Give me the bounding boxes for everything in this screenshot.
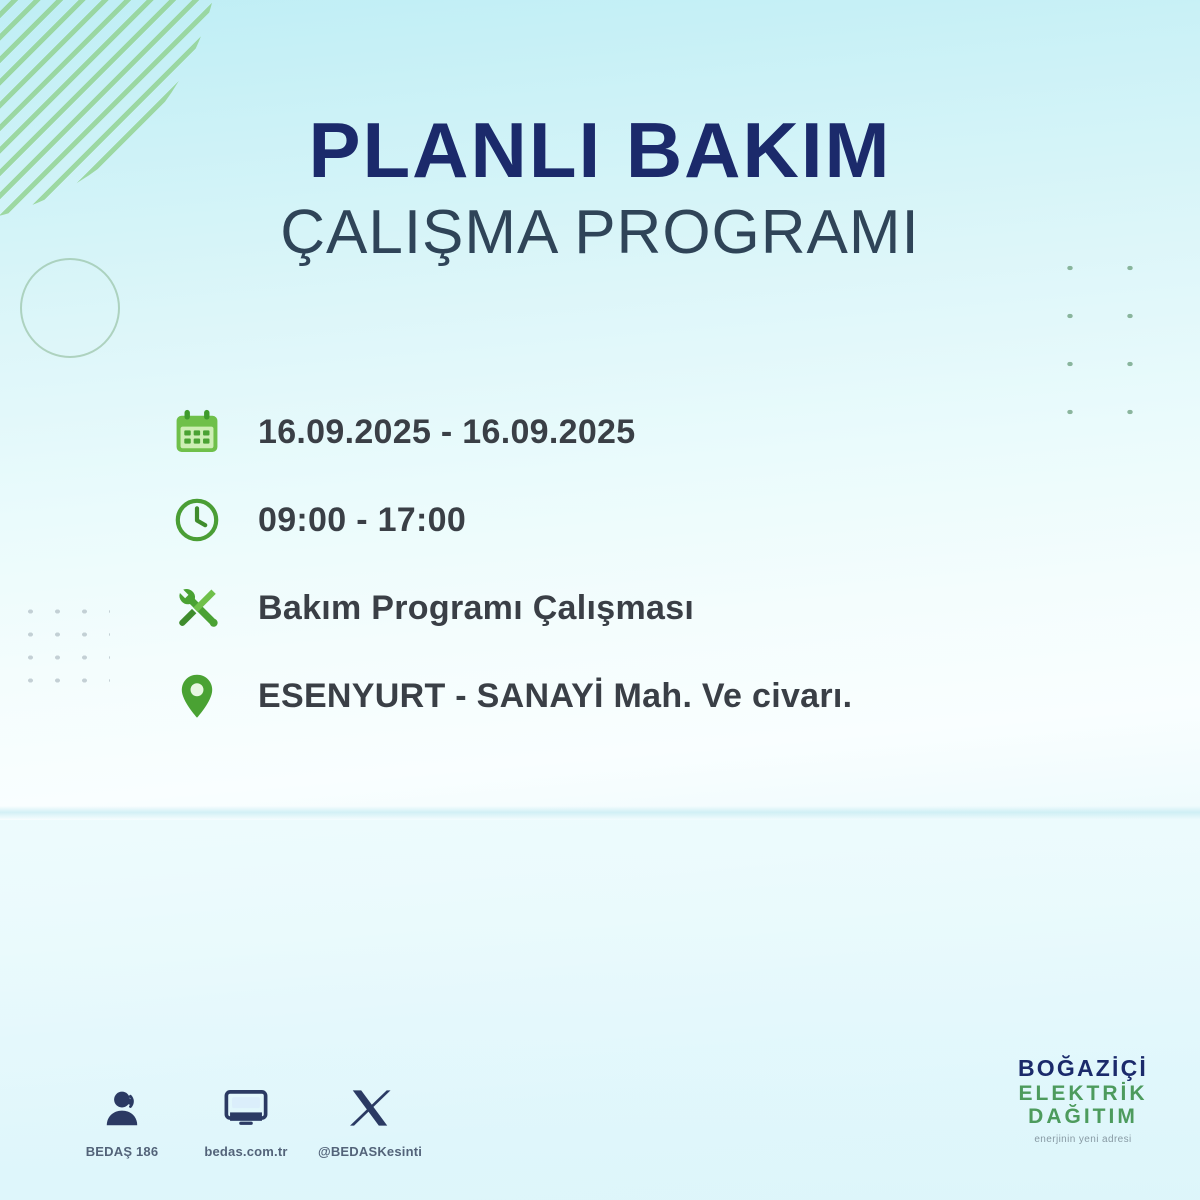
monitor-icon [222,1082,270,1134]
detail-row-date: 16.09.2025 - 16.09.2025 [168,388,1068,476]
contact-label-website: bedas.com.tr [204,1144,287,1159]
page-subtitle: ÇALIŞMA PROGRAMI [0,200,1200,265]
detail-time-text: 09:00 - 17:00 [258,501,466,540]
detail-location-text: ESENYURT - SANAYİ Mah. Ve civarı. [258,677,852,716]
planli-bakim-poster: PLANLI BAKIM ÇALIŞMA PROGRAMI [0,0,1200,1200]
clock-icon [168,491,226,549]
detail-row-time: 09:00 - 17:00 [168,476,1068,564]
maintenance-details-list: 16.09.2025 - 16.09.2025 09:00 - 17:00 [168,388,1068,740]
contact-item-x-twitter[interactable]: @BEDASKesinti [308,1082,432,1159]
contact-item-call-center[interactable]: BEDAŞ 186 [60,1082,184,1159]
dot-grid-left-decoration [14,596,110,696]
detail-date-text: 16.09.2025 - 16.09.2025 [258,413,635,452]
location-pin-icon [168,667,226,725]
poster-heading-block: PLANLI BAKIM ÇALIŞMA PROGRAMI [0,112,1200,266]
bedas-logo: BOĞAZİÇİ ELEKTRİK DAĞITIM enerjinin yeni… [988,1056,1178,1145]
detail-row-location: ESENYURT - SANAYİ Mah. Ve civarı. [168,652,1068,740]
logo-tagline: enerjinin yeni adresi [988,1134,1178,1145]
tools-icon [168,579,226,637]
page-title: PLANLI BAKIM [0,112,1200,188]
x-twitter-icon [348,1082,392,1134]
contact-label-call-center: BEDAŞ 186 [86,1144,159,1159]
contact-item-website[interactable]: bedas.com.tr [184,1082,308,1159]
detail-row-work-type: Bakım Programı Çalışması [168,564,1068,652]
contact-label-x-twitter: @BEDASKesinti [318,1144,422,1159]
circle-outline-decoration [20,258,120,358]
support-person-icon [100,1082,144,1134]
footer-contact-bar: BEDAŞ 186 bedas.com.tr @BEDASKesinti [60,1082,432,1159]
detail-work-type-text: Bakım Programı Çalışması [258,589,694,628]
logo-line-bogazici: BOĞAZİÇİ [988,1056,1178,1082]
logo-line-elektrik: ELEKTRİK [988,1082,1178,1106]
logo-line-dagitim: DAĞITIM [988,1105,1178,1129]
horizontal-divider-band [0,806,1200,820]
calendar-icon [168,403,226,461]
